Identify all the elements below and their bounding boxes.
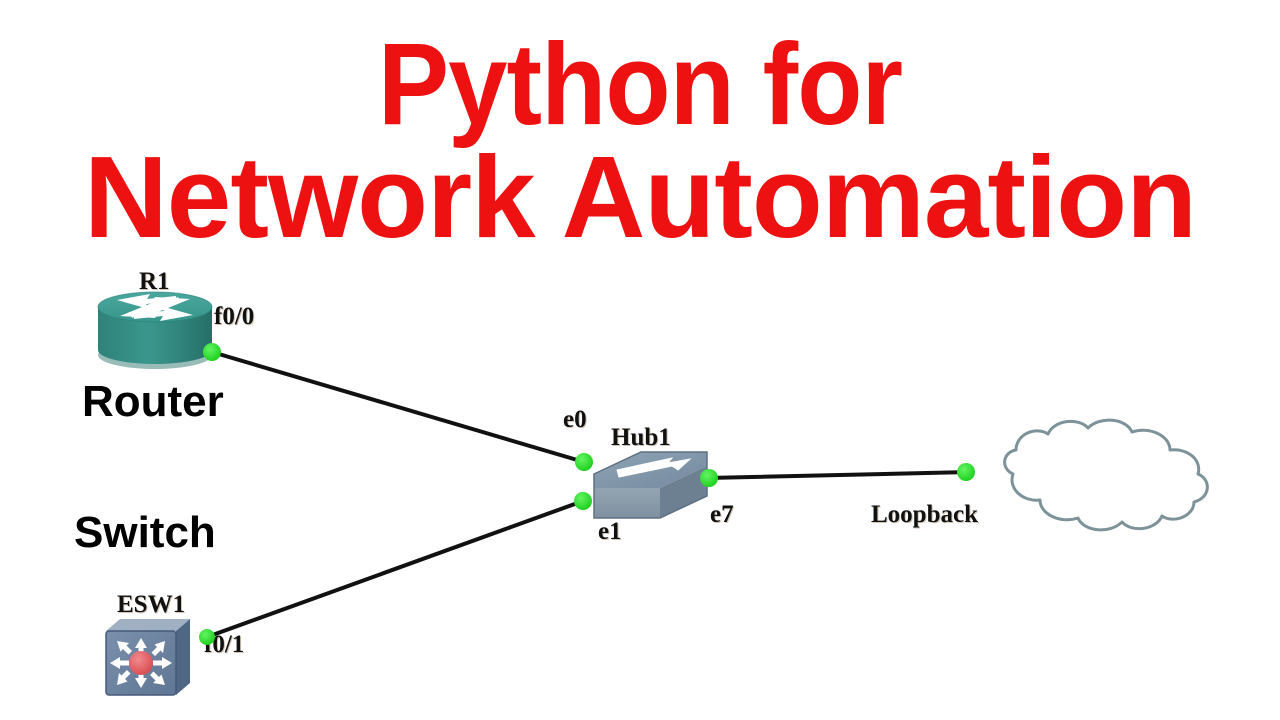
router-icon[interactable] <box>98 292 212 369</box>
endpoint-cloud1-loopback[interactable] <box>957 463 975 481</box>
hub-icon[interactable] <box>594 452 707 518</box>
endpoint-esw1-f01[interactable] <box>199 629 215 645</box>
link-endpoints <box>199 343 975 645</box>
endpoint-hub1-e7[interactable] <box>700 469 718 487</box>
cloud-icon[interactable] <box>1005 420 1208 530</box>
endpoint-r1-f00[interactable] <box>203 343 221 361</box>
icons-layer <box>0 0 1280 720</box>
network-topology-diagram: Python for Network Automation <box>0 0 1280 720</box>
endpoint-hub1-e0[interactable] <box>575 453 593 471</box>
switch-icon[interactable] <box>106 619 190 695</box>
endpoint-hub1-e1[interactable] <box>574 492 592 510</box>
